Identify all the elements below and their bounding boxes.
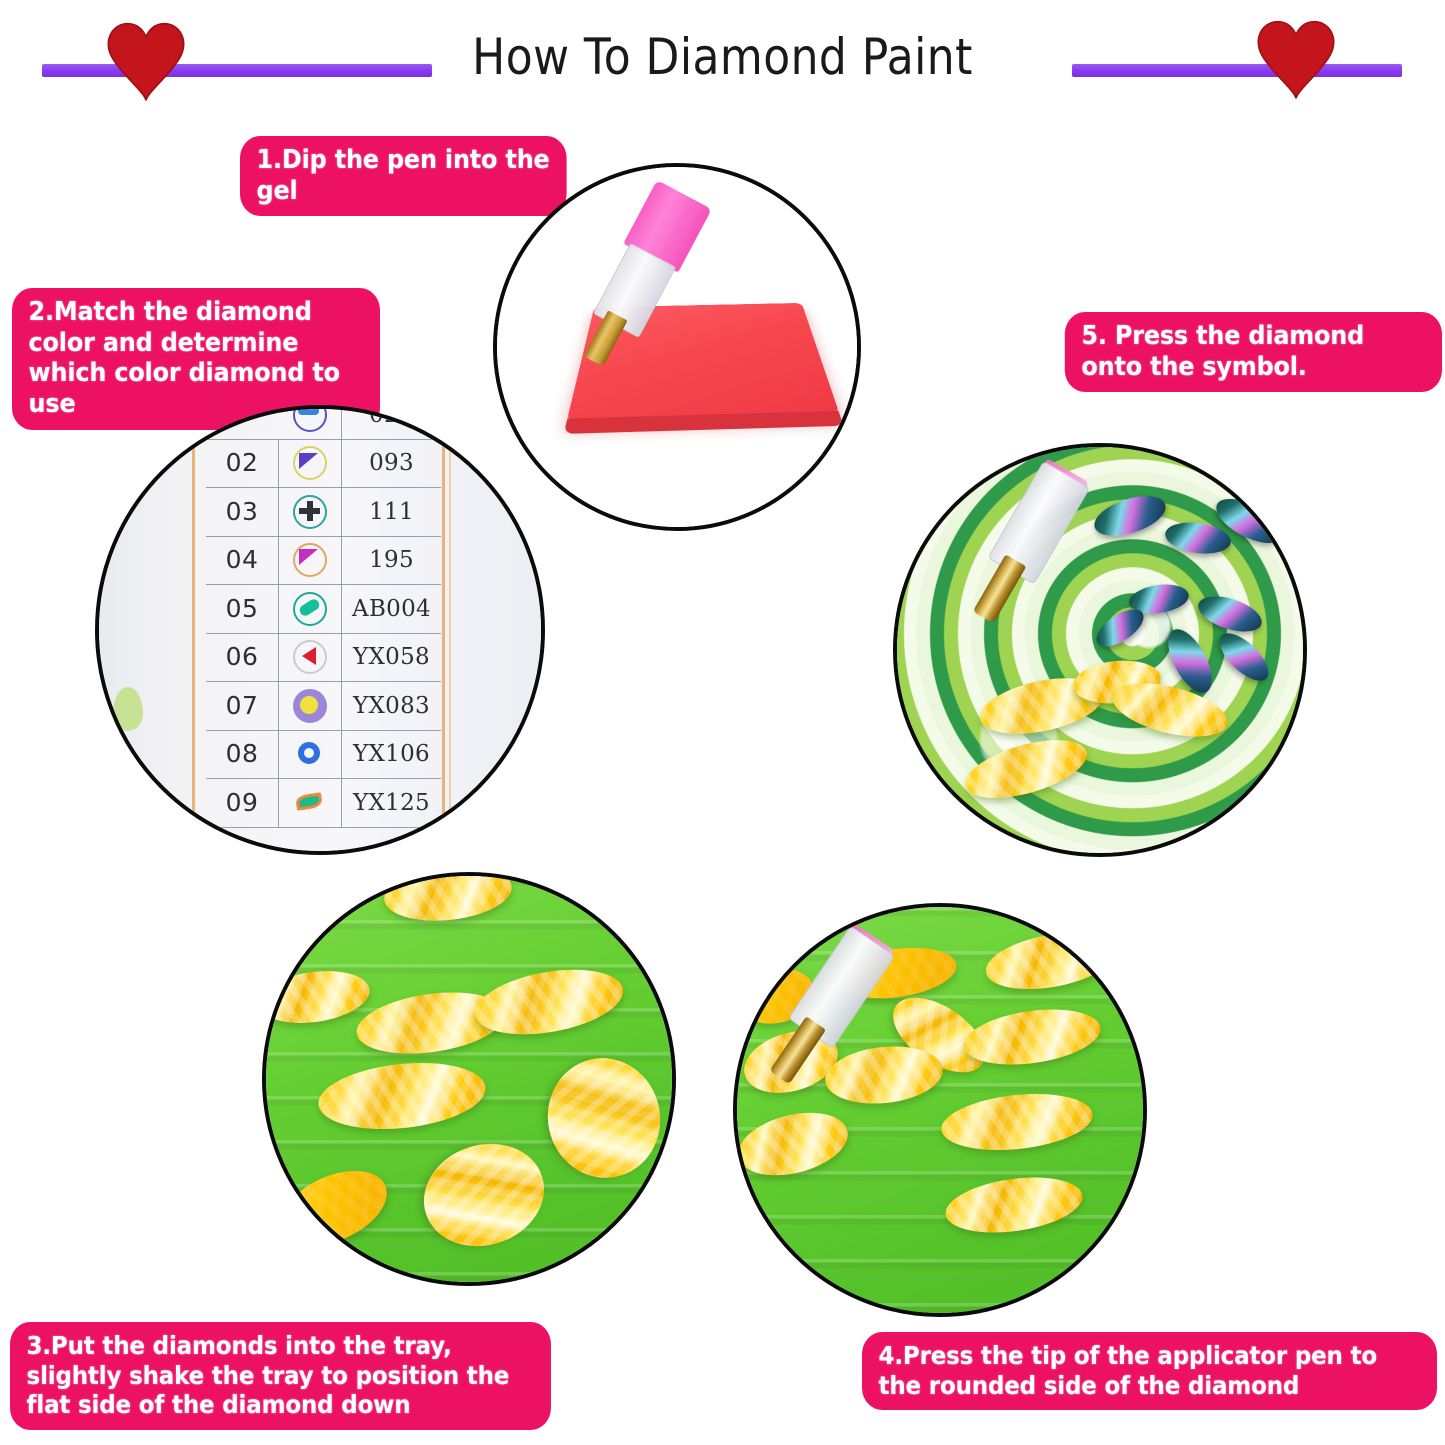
- symbol-glyph: [299, 508, 320, 514]
- plus-cross-icon: [293, 495, 327, 529]
- mandala-canvas: [897, 447, 1303, 853]
- row-symbol-cell: [279, 537, 342, 585]
- table-row: 05AB004: [206, 585, 441, 634]
- diamond-gem: [537, 1048, 672, 1189]
- row-color-code: AB004: [342, 596, 441, 622]
- row-symbol-cell: [279, 488, 342, 536]
- diamond-gem: [939, 1087, 1096, 1157]
- row-number: 02: [206, 439, 279, 487]
- dark-iridescent-gem: [1163, 519, 1233, 558]
- chart-margin-line: [449, 409, 451, 851]
- applicator-pen: [958, 461, 1088, 634]
- infographic-canvas: How To Diamond Paint 1.Dip the pen into …: [0, 0, 1445, 1445]
- dark-iridescent-gem: [1090, 488, 1171, 543]
- step-4-photo-pen-picking-diamond: [733, 903, 1147, 1317]
- row-number: 07: [206, 682, 279, 730]
- row-color-code: 195: [342, 547, 441, 573]
- diamond-gem: [1107, 673, 1233, 746]
- row-color-code: YX083: [342, 693, 441, 719]
- canvas-ring-motif: [105, 791, 137, 819]
- symbol-glyph: [307, 501, 313, 521]
- page-title: How To Diamond Paint: [87, 28, 1359, 86]
- row-color-code: 093: [342, 450, 441, 476]
- diamond-gem: [470, 959, 628, 1044]
- row-number: 09: [206, 779, 279, 827]
- green-leaf-orange-outline-icon: [293, 786, 327, 820]
- step-3-photo-diamond-tray: [262, 872, 676, 1286]
- diamond-gem: [315, 1055, 489, 1136]
- row-color-code: YX058: [342, 644, 441, 670]
- diamond-gem: [382, 872, 515, 927]
- row-symbol-cell: [279, 731, 342, 779]
- dark-iridescent-gem: [1212, 625, 1276, 688]
- row-symbol-cell: [279, 585, 342, 633]
- symbol-glyph: [298, 742, 320, 764]
- symbol-glyph: [299, 453, 318, 469]
- chart-margin-line: [192, 409, 195, 851]
- row-color-code: YX125: [342, 790, 441, 816]
- header: How To Diamond Paint: [0, 0, 1445, 120]
- row-symbol-cell: [279, 440, 342, 488]
- table-row: 07YX083: [206, 682, 441, 731]
- step-5-label: 5. Press the diamond onto the symbol.: [1065, 312, 1442, 392]
- diamond-gem: [411, 1129, 558, 1262]
- symbol-glyph: [302, 647, 316, 665]
- symbol-glyph: [300, 696, 318, 714]
- table-row: 03111: [206, 488, 441, 537]
- row-color-code: 111: [342, 499, 441, 525]
- symbol-code-table: 02802093031110419505AB00406YX05807YX0830…: [206, 405, 441, 828]
- diamond-gem: [733, 1102, 854, 1185]
- blue-open-ring-icon: [293, 737, 327, 771]
- row-number: 06: [206, 633, 279, 681]
- table-row: 04195: [206, 537, 441, 586]
- green-tray: [737, 907, 1143, 1313]
- row-number: 04: [206, 536, 279, 584]
- row-symbol-cell: [279, 634, 342, 682]
- row-symbol-cell: [279, 405, 342, 439]
- step-5-photo-mandala: [893, 443, 1307, 857]
- step-2-photo-symbol-chart: 02802093031110419505AB00406YX05807YX0830…: [95, 405, 545, 855]
- red-chevron-left-icon: [293, 640, 327, 674]
- purple-triangle-icon: [293, 446, 327, 480]
- table-row: 06YX058: [206, 634, 441, 683]
- row-color-code: YX106: [342, 741, 441, 767]
- symbol-glyph: [298, 406, 319, 415]
- row-number: 03: [206, 488, 279, 536]
- table-row: 09YX125: [206, 779, 441, 828]
- teal-capsule-icon: [293, 592, 327, 626]
- pen-tip-icon: [973, 554, 1027, 623]
- yellow-dot-purple-ring-icon: [293, 689, 327, 723]
- symbol-glyph: [295, 792, 323, 810]
- row-symbol-cell: [279, 779, 342, 827]
- dark-iridescent-gem: [1194, 590, 1266, 639]
- diamond-gem: [942, 1170, 1086, 1241]
- row-number: 05: [206, 585, 279, 633]
- row-number: 08: [206, 730, 279, 778]
- row-color-code: 028: [342, 405, 441, 428]
- step-1-photo-pen-into-gel: [493, 163, 861, 531]
- row-symbol-cell: [279, 682, 342, 730]
- diamond-gem: [981, 924, 1120, 998]
- step-3-label: 3.Put the diamonds into the tray, slight…: [10, 1322, 551, 1430]
- diamond-gem: [822, 1041, 945, 1109]
- diamond-gem: [960, 1002, 1104, 1073]
- chart-margin-line: [442, 409, 445, 851]
- diamond-gem: [270, 1156, 398, 1260]
- table-row: 02093: [206, 440, 441, 489]
- magenta-triangle-icon: [293, 543, 327, 577]
- green-tray: [266, 876, 672, 1282]
- step-4-label: 4.Press the tip of the applicator pen to…: [862, 1332, 1437, 1410]
- canvas-leaf-motif: [113, 687, 143, 731]
- symbol-glyph: [299, 549, 318, 565]
- diamond-gem: [959, 729, 1093, 810]
- table-row: 08YX106: [206, 731, 441, 780]
- table-row: 028: [206, 405, 441, 440]
- symbol-glyph: [298, 597, 322, 617]
- blue-circle-two-dots-icon: [293, 405, 327, 432]
